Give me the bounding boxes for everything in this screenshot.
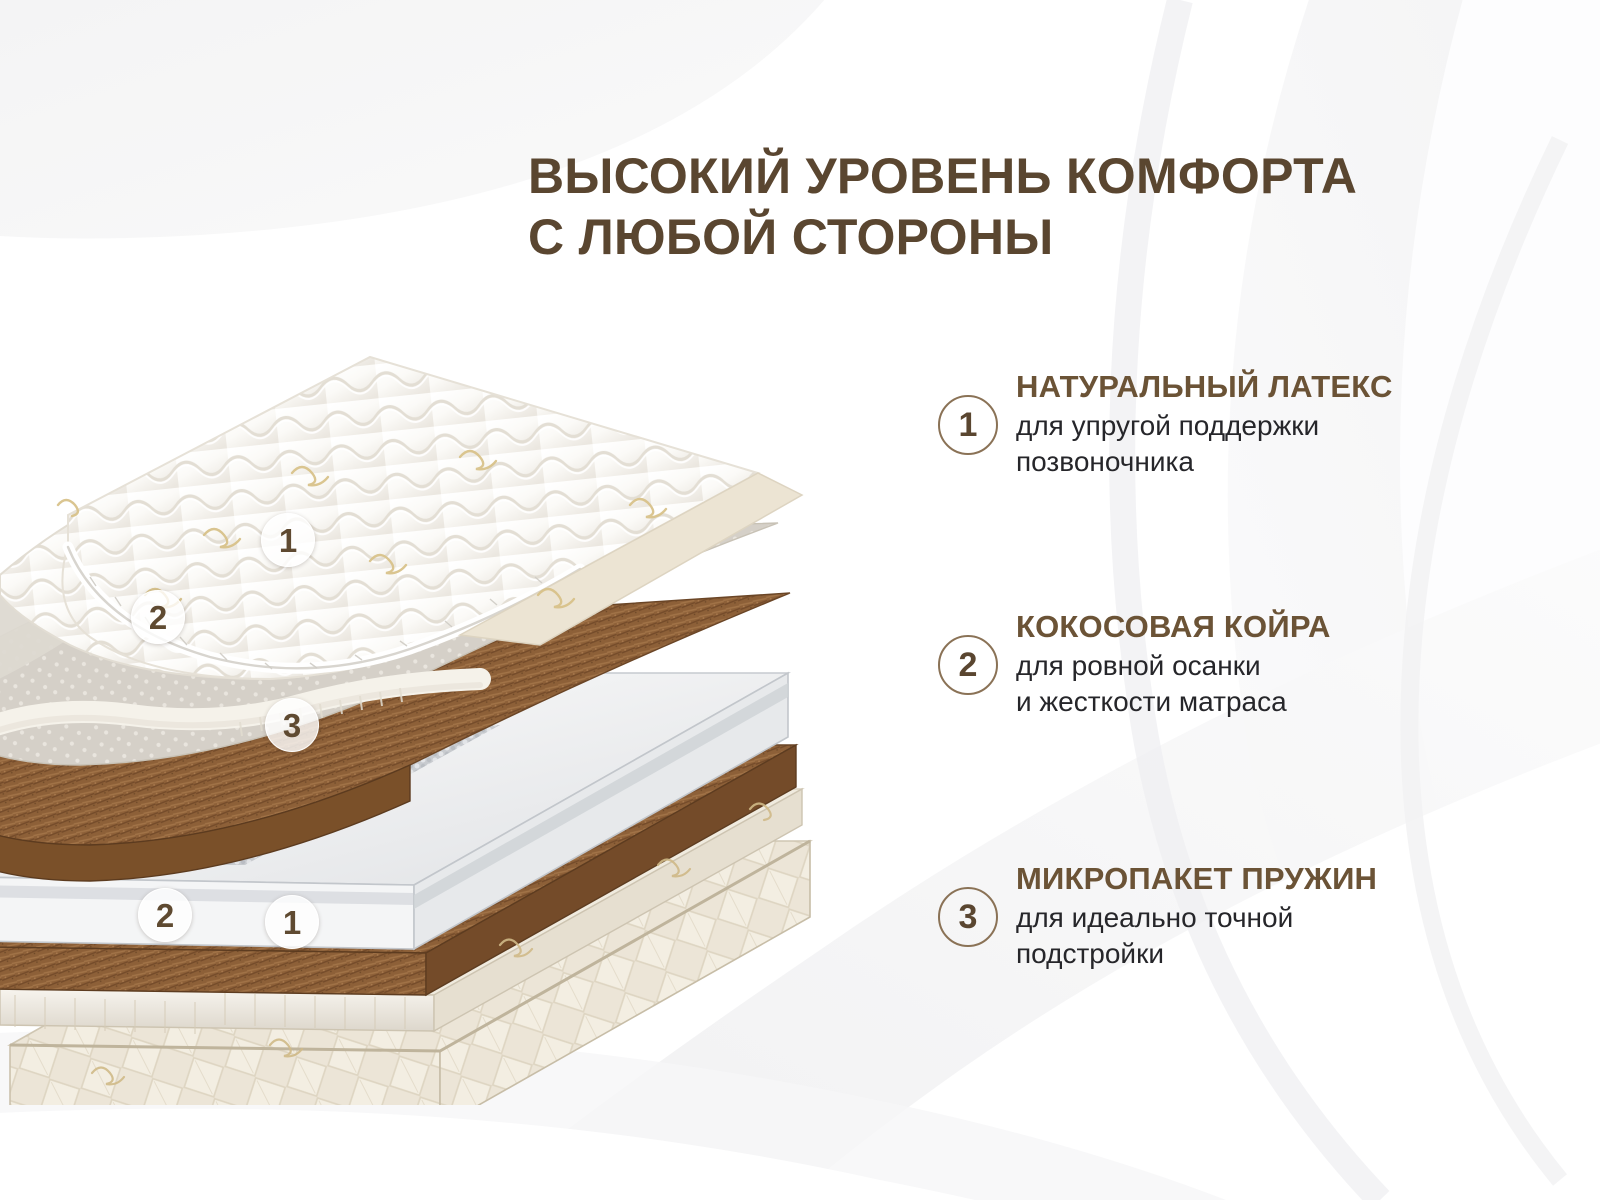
image-callout-1-bottom: 1 <box>265 895 319 949</box>
promo-banner: 1 2 3 2 1 ВЫСОКИЙ УРОВЕНЬ КОМФОРТА С ЛЮБ… <box>0 0 1600 1200</box>
feature-description-3: для идеально точной подстройки <box>1016 900 1377 972</box>
image-callout-2-bottom: 2 <box>138 888 192 942</box>
image-callout-2-top: 2 <box>131 590 185 644</box>
feature-number-badge-2: 2 <box>938 635 998 695</box>
image-callout-3-spring: 3 <box>265 698 319 752</box>
feature-item-latex: 1 НАТУРАЛЬНЫЙ ЛАТЕКС для упругой поддерж… <box>938 370 1393 480</box>
feature-title-2: КОКОСОВАЯ КОЙРА <box>1016 610 1331 644</box>
image-callout-1-top: 1 <box>261 513 315 567</box>
feature-text-2: КОКОСОВАЯ КОЙРА для ровной осанки и жест… <box>1016 610 1331 720</box>
feature-description-2: для ровной осанки и жесткости матраса <box>1016 648 1331 720</box>
feature-title-3: МИКРОПАКЕТ ПРУЖИН <box>1016 862 1377 896</box>
feature-number-badge-1: 1 <box>938 395 998 455</box>
feature-number-badge-3: 3 <box>938 887 998 947</box>
feature-item-springs: 3 МИКРОПАКЕТ ПРУЖИН для идеально точной … <box>938 862 1377 972</box>
feature-item-coir: 2 КОКОСОВАЯ КОЙРА для ровной осанки и же… <box>938 610 1331 720</box>
feature-text-3: МИКРОПАКЕТ ПРУЖИН для идеально точной по… <box>1016 862 1377 972</box>
mattress-cutaway-illustration <box>0 205 860 1105</box>
feature-description-1: для упругой поддержки позвоночника <box>1016 408 1393 480</box>
page-title: ВЫСОКИЙ УРОВЕНЬ КОМФОРТА С ЛЮБОЙ СТОРОНЫ <box>528 146 1548 268</box>
feature-text-1: НАТУРАЛЬНЫЙ ЛАТЕКС для упругой поддержки… <box>1016 370 1393 480</box>
feature-title-1: НАТУРАЛЬНЫЙ ЛАТЕКС <box>1016 370 1393 404</box>
